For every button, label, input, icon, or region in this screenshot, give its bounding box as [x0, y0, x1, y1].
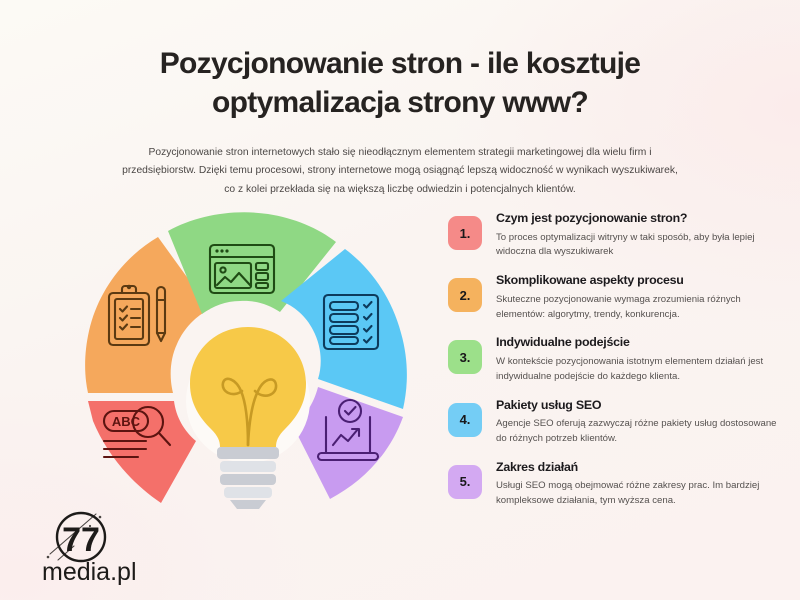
list-item[interactable]: 2. Skomplikowane aspekty procesu Skutecz… — [448, 272, 784, 322]
list-item[interactable]: 5. Zakres działań Usługi SEO mogą obejmo… — [448, 459, 784, 509]
list-item-description: Agencje SEO oferują zazwyczaj różne paki… — [496, 417, 784, 447]
list-item-title: Czym jest pozycjonowanie stron? — [496, 211, 784, 227]
page-title: Pozycjonowanie stron - ile kosztuje opty… — [0, 44, 800, 122]
logo[interactable]: 77 media.pl — [34, 510, 184, 586]
lightbulb-center — [186, 327, 310, 509]
list-item-description: Skuteczne pozycjonowanie wymaga zrozumie… — [496, 293, 784, 323]
list-item-badge: 3. — [448, 340, 482, 374]
logo-wordmark: media.pl — [42, 558, 137, 586]
lightbulb-petal-diagram: ABC — [62, 205, 434, 515]
list-item-title: Skomplikowane aspekty procesu — [496, 273, 784, 289]
list-item-body: Czym jest pozycjonowanie stron? To proce… — [496, 210, 784, 260]
list-item-body: Pakiety usług SEO Agencje SEO oferują za… — [496, 397, 784, 447]
list-item-title: Indywidualne podejście — [496, 335, 784, 351]
list-item-badge: 5. — [448, 465, 482, 499]
svg-text:ABC: ABC — [112, 414, 141, 429]
numbered-list: 1. Czym jest pozycjonowanie stron? To pr… — [448, 210, 784, 509]
list-item-body: Skomplikowane aspekty procesu Skuteczne … — [496, 272, 784, 322]
logo-mark: 77 — [62, 521, 100, 559]
list-item-description: Usługi SEO mogą obejmować różne zakresy … — [496, 479, 784, 509]
list-item-badge: 4. — [448, 403, 482, 437]
header: Pozycjonowanie stron - ile kosztuje opty… — [0, 44, 800, 199]
list-item-title: Zakres działań — [496, 460, 784, 476]
page-subtitle: Pozycjonowanie stron internetowych stało… — [117, 144, 683, 199]
infographic-canvas: Pozycjonowanie stron - ile kosztuje opty… — [0, 0, 800, 600]
list-item-body: Indywidualne podejście W kontekście pozy… — [496, 334, 784, 384]
bulb-base — [217, 447, 279, 509]
list-item-description: To proces optymalizacji witryny w taki s… — [496, 231, 784, 261]
list-item[interactable]: 3. Indywidualne podejście W kontekście p… — [448, 334, 784, 384]
list-item-body: Zakres działań Usługi SEO mogą obejmować… — [496, 459, 784, 509]
list-item-badge: 2. — [448, 278, 482, 312]
list-item[interactable]: 1. Czym jest pozycjonowanie stron? To pr… — [448, 210, 784, 260]
list-item[interactable]: 4. Pakiety usług SEO Agencje SEO oferują… — [448, 397, 784, 447]
petal-red[interactable]: ABC — [88, 401, 196, 503]
list-item-badge: 1. — [448, 216, 482, 250]
list-item-description: W kontekście pozycjonowania istotnym ele… — [496, 355, 784, 385]
list-item-title: Pakiety usług SEO — [496, 398, 784, 414]
